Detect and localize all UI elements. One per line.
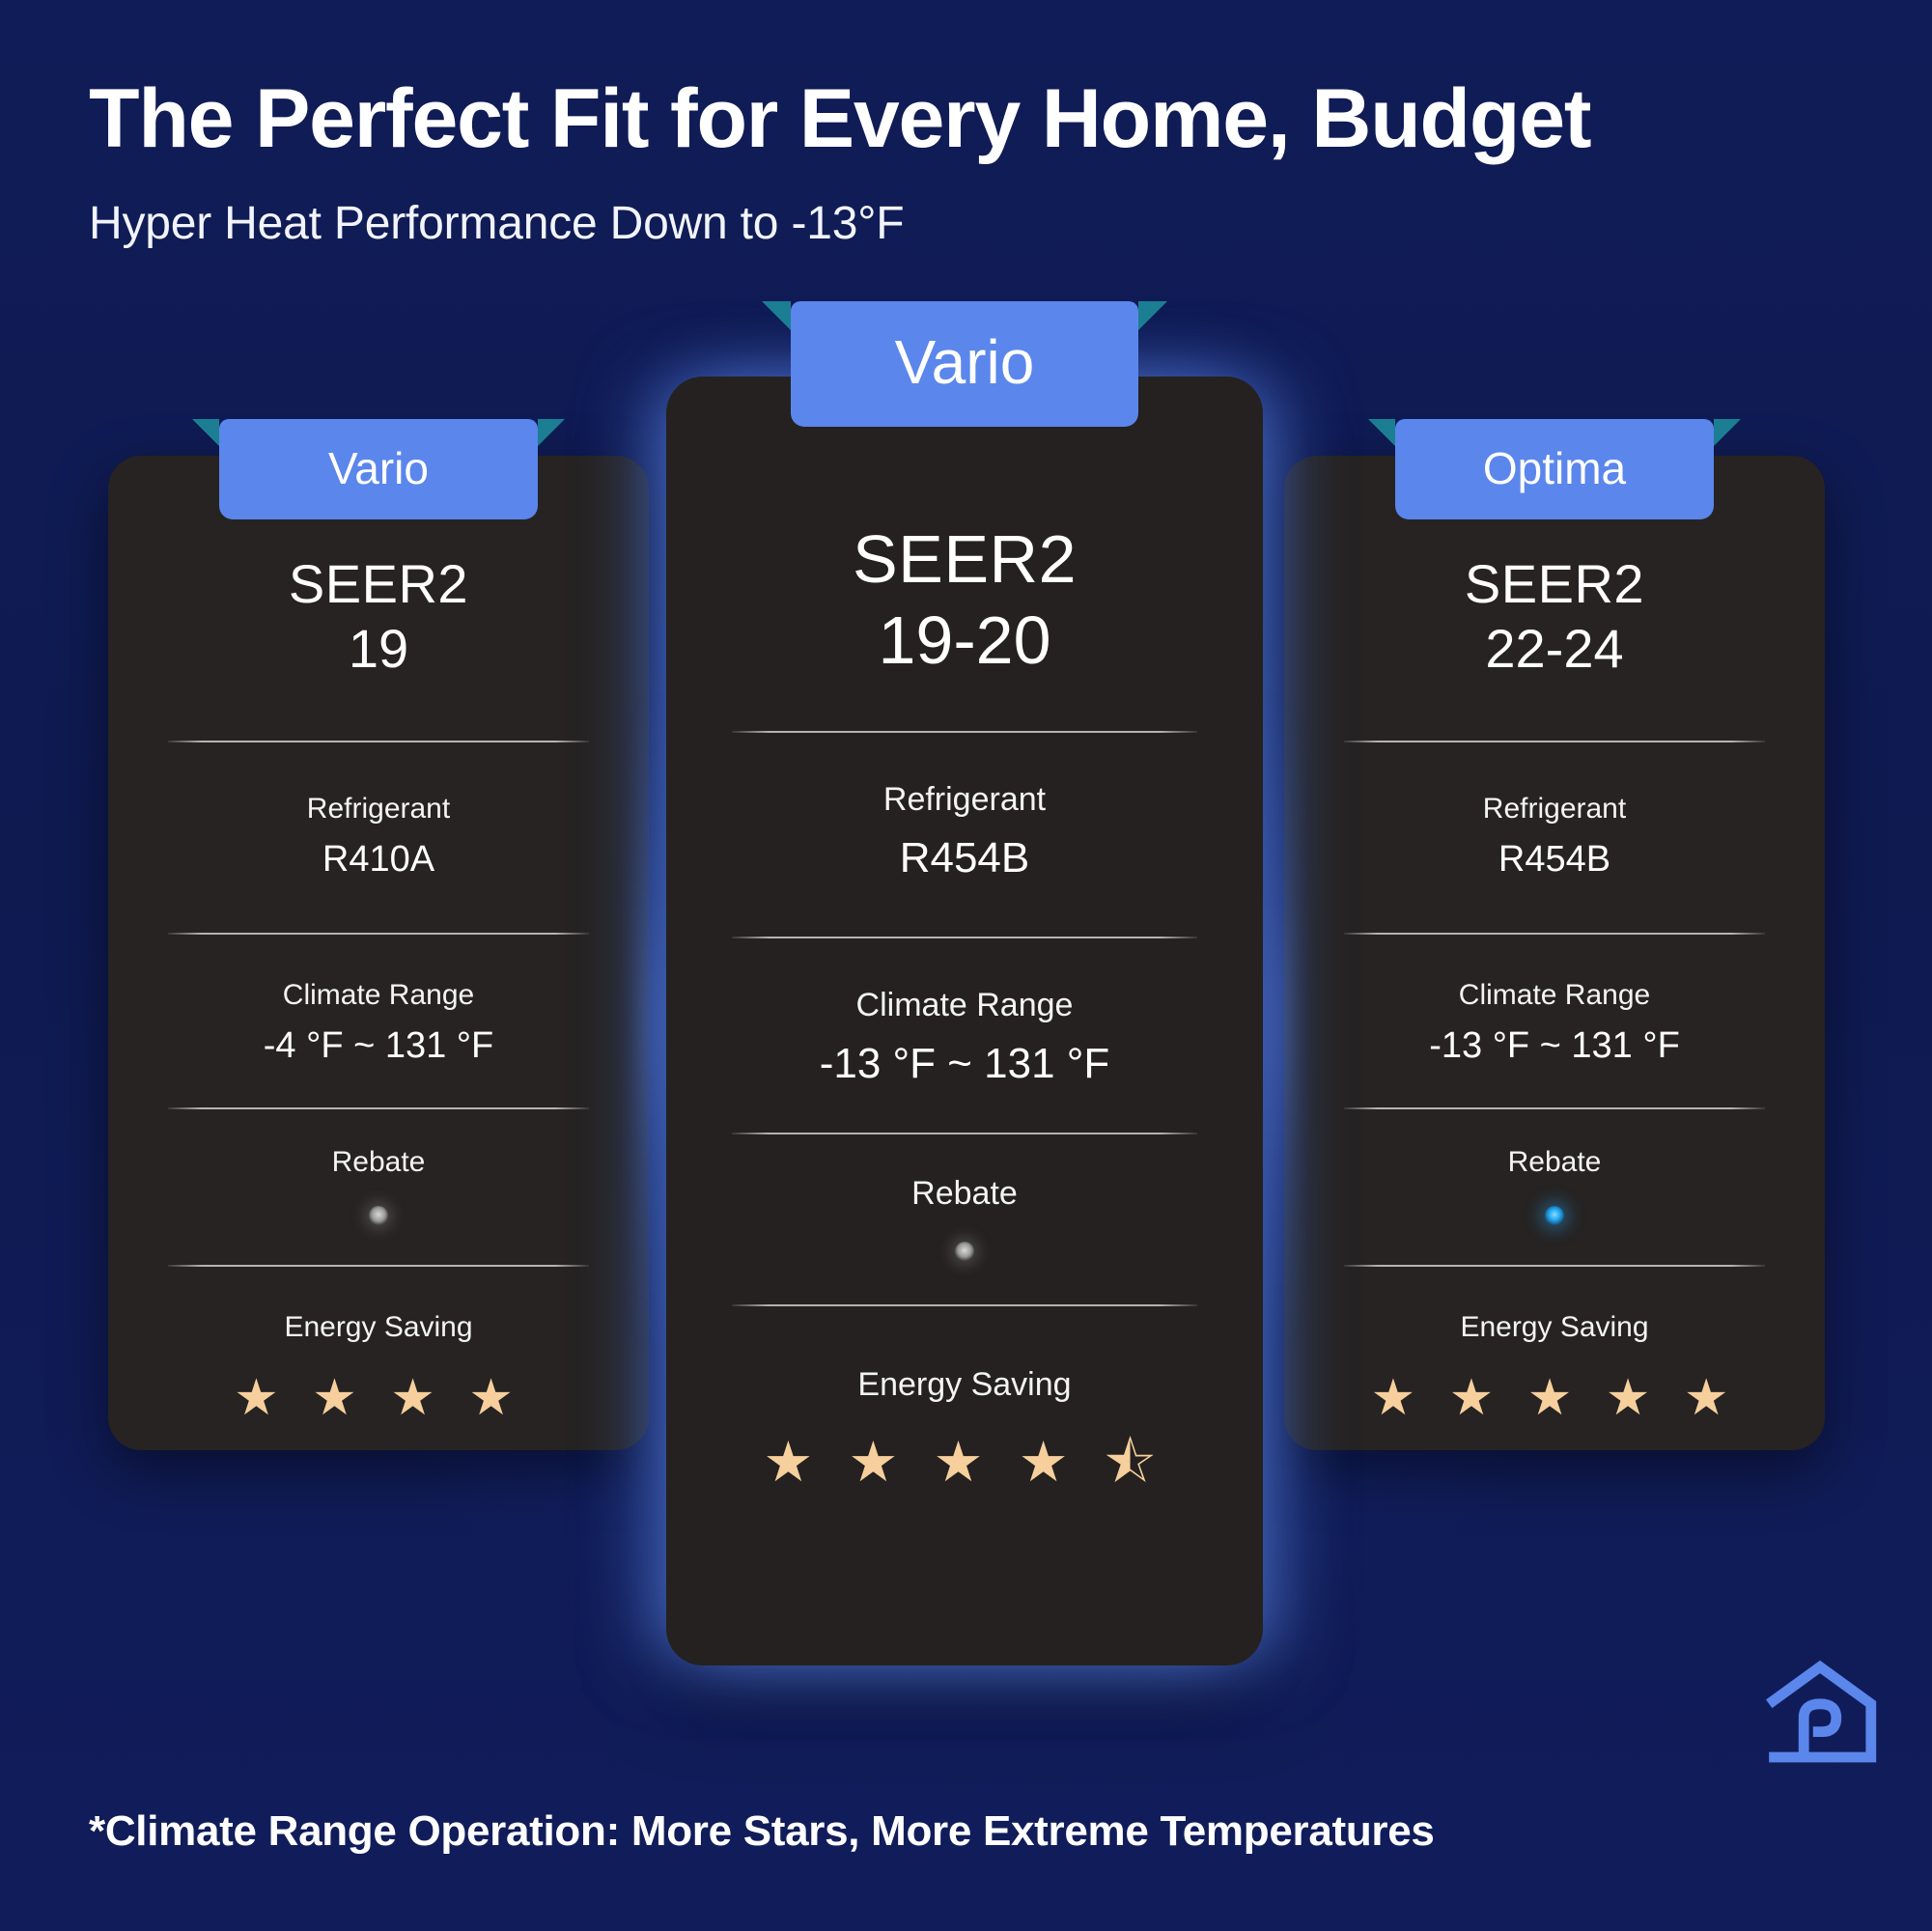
climate-range-label: Climate Range [666, 987, 1263, 1024]
rebate-indicator-dot [955, 1242, 974, 1261]
seer2-label: SEER2 [666, 519, 1263, 600]
page-title: The Perfect Fit for Every Home, Budget [89, 75, 1846, 162]
climate-range-label: Climate Range [108, 979, 649, 1012]
rebate-indicator-dot [1545, 1206, 1564, 1225]
card-ribbon-wrapper: Vario [791, 301, 1138, 427]
house-logo [1762, 1653, 1878, 1769]
energy-saving-stars: ★ ★ ★ ★ ⯪ [666, 1435, 1263, 1491]
product-name-ribbon: Optima [1395, 419, 1714, 519]
climate-range-value: -4 °F ~ 131 °F [108, 1025, 649, 1067]
header: The Perfect Fit for Every Home, Budget H… [89, 75, 1846, 250]
energy-saving-stars: ★ ★ ★ ★ ★ [1284, 1373, 1825, 1423]
climate-range-value: -13 °F ~ 131 °F [1284, 1025, 1825, 1067]
refrigerant-value: R454B [666, 834, 1263, 882]
energy-saving-stars: ★ ★ ★ ★ [108, 1373, 649, 1423]
energy-saving-label: Energy Saving [666, 1366, 1263, 1404]
card-ribbon-wrapper: Vario [219, 419, 538, 519]
card-body: SEER2 19-20 Refrigerant R454B Climate Ra… [666, 519, 1263, 1491]
rebate-indicator-dot [369, 1206, 388, 1225]
climate-range-label: Climate Range [1284, 979, 1825, 1012]
refrigerant-label: Refrigerant [1284, 793, 1825, 826]
rebate-label: Rebate [666, 1175, 1263, 1213]
product-card-optima[interactable]: Optima SEER2 22-24 Refrigerant R454B Cli… [1284, 456, 1825, 1450]
seer2-value: 19-20 [666, 600, 1263, 681]
infographic-canvas: The Perfect Fit for Every Home, Budget H… [0, 0, 1932, 1931]
rebate-label: Rebate [108, 1146, 649, 1179]
card-body: SEER2 22-24 Refrigerant R454B Climate Ra… [1284, 552, 1825, 1423]
seer2-label: SEER2 [108, 552, 649, 616]
rebate-label: Rebate [1284, 1146, 1825, 1179]
product-card-vario-featured[interactable]: Vario SEER2 19-20 Refrigerant R454B Clim… [666, 377, 1263, 1665]
card-body: SEER2 19 Refrigerant R410A Climate Range… [108, 552, 649, 1423]
comparison-cards: Vario SEER2 19 Refrigerant R410A Climate… [0, 367, 1932, 1738]
refrigerant-value: R454B [1284, 839, 1825, 881]
refrigerant-value: R410A [108, 839, 649, 881]
product-card-vario-entry[interactable]: Vario SEER2 19 Refrigerant R410A Climate… [108, 456, 649, 1450]
seer2-value: 22-24 [1284, 616, 1825, 681]
refrigerant-label: Refrigerant [666, 781, 1263, 819]
card-ribbon-wrapper: Optima [1395, 419, 1714, 519]
seer2-value: 19 [108, 616, 649, 681]
footnote: *Climate Range Operation: More Stars, Mo… [89, 1807, 1435, 1856]
refrigerant-label: Refrigerant [108, 793, 649, 826]
product-name-ribbon: Vario [219, 419, 538, 519]
climate-range-value: -13 °F ~ 131 °F [666, 1040, 1263, 1088]
energy-saving-label: Energy Saving [1284, 1311, 1825, 1344]
energy-saving-label: Energy Saving [108, 1311, 649, 1344]
page-subtitle: Hyper Heat Performance Down to -13°F [89, 197, 1846, 250]
seer2-label: SEER2 [1284, 552, 1825, 616]
product-name-ribbon: Vario [791, 301, 1138, 427]
